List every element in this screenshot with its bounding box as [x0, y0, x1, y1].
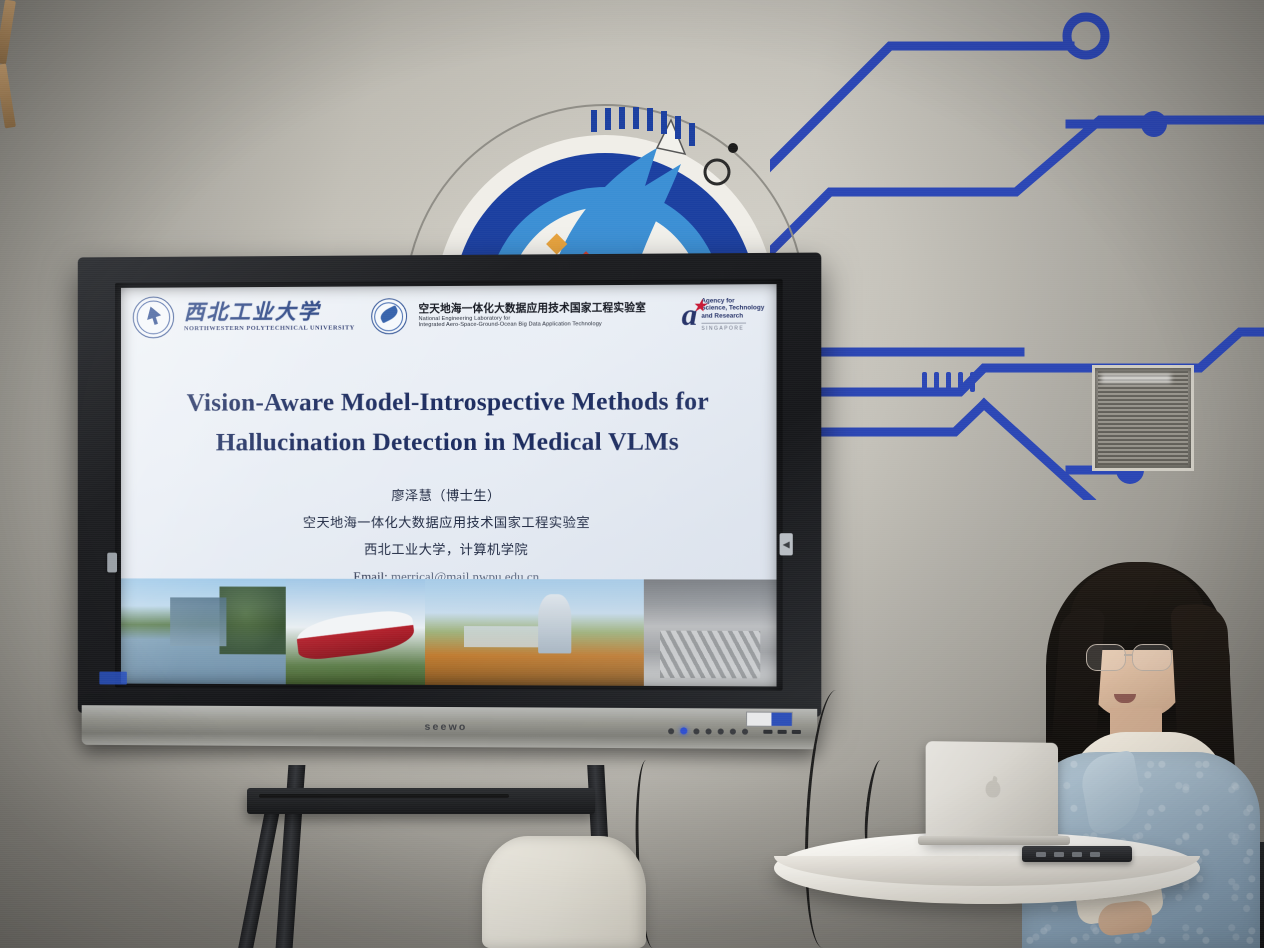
display-button-4[interactable]	[706, 728, 712, 734]
vent-louvers	[1098, 371, 1188, 465]
display-left-sticker	[99, 672, 127, 685]
display-floor-stand	[247, 788, 595, 814]
display-left-tab-icon[interactable]	[107, 553, 117, 573]
display-button-1[interactable]	[668, 728, 674, 734]
dock-port-2[interactable]	[1054, 852, 1064, 857]
glasses-right-lens	[1132, 644, 1172, 671]
usb-hub-dock[interactable]	[1022, 846, 1132, 862]
display-spec-sticker	[746, 712, 793, 727]
dock-port-1[interactable]	[1036, 852, 1046, 857]
display-brand-label: seewo	[424, 721, 467, 733]
display-right-tab-icon[interactable]: ◀	[780, 533, 793, 555]
display-button-7[interactable]	[742, 728, 748, 734]
display-button-3[interactable]	[693, 728, 699, 734]
display-port-1[interactable]	[763, 730, 772, 734]
eyeglasses-icon	[1084, 644, 1188, 670]
glasses-left-lens	[1086, 644, 1126, 671]
silver-laptop[interactable]	[926, 741, 1058, 843]
interactive-display[interactable]: 西北工业大学 NORTHWESTERN POLYTECHNICAL UNIVER…	[78, 253, 822, 768]
glasses-bridge	[1124, 654, 1132, 656]
display-port-row[interactable]	[763, 730, 801, 734]
display-button-6[interactable]	[730, 728, 736, 734]
dock-port-4[interactable]	[1090, 852, 1100, 857]
dock-port-3[interactable]	[1072, 852, 1082, 857]
display-button-5[interactable]	[718, 728, 724, 734]
vent-glare	[1101, 374, 1171, 383]
conference-room-scene: 西北工业大学 NORTHWESTERN POLYTECHNICAL UNIVER…	[0, 0, 1264, 948]
laptop-base	[918, 836, 1070, 845]
white-molded-chair	[482, 836, 646, 948]
display-control-bar[interactable]: seewo	[82, 705, 818, 749]
display-power-button[interactable]	[680, 727, 687, 734]
screen-inner-shadow	[115, 279, 783, 691]
display-button-row[interactable]	[668, 727, 748, 734]
display-port-2[interactable]	[778, 730, 787, 734]
apple-logo-icon	[986, 780, 1001, 797]
air-vent-grille	[1092, 365, 1194, 471]
display-port-3[interactable]	[792, 730, 801, 734]
